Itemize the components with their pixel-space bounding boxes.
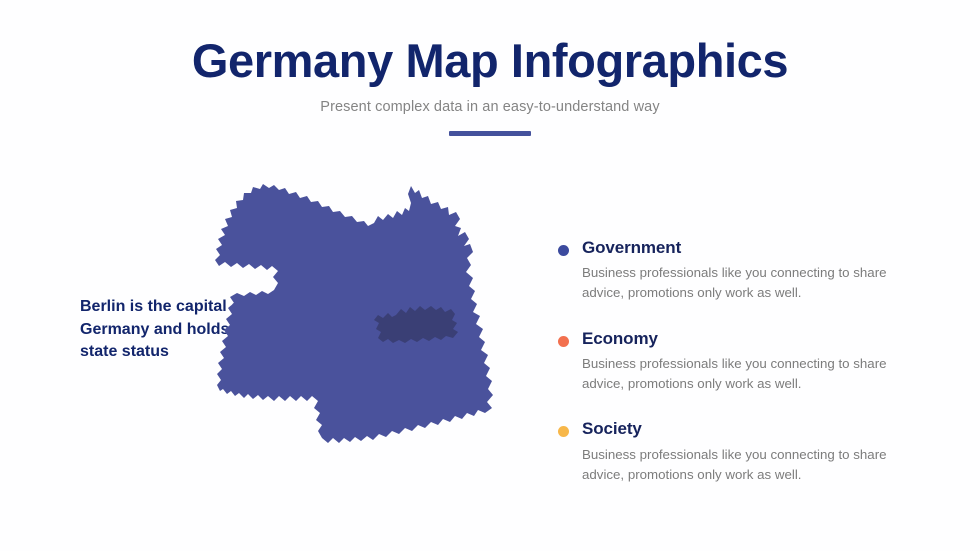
brandenburg-map[interactable]: [212, 182, 542, 494]
point-body-government: Business professionals like you connecti…: [582, 263, 900, 302]
list-item[interactable]: Government Business professionals like y…: [556, 238, 916, 303]
bullet-dot-icon: [558, 426, 569, 437]
page-subtitle: Present complex data in an easy-to-under…: [0, 99, 980, 115]
list-item[interactable]: Society Business professionals like you …: [556, 419, 916, 484]
info-points-list: Government Business professionals like y…: [556, 238, 916, 484]
bullet-dot-icon: [558, 245, 569, 256]
accent-divider: [449, 131, 531, 136]
point-body-society: Business professionals like you connecti…: [582, 445, 900, 484]
page-title: Germany Map Infographics: [0, 36, 980, 85]
point-title-government: Government: [582, 238, 916, 258]
point-body-economy: Business professionals like you connecti…: [582, 354, 900, 393]
slide-header: Germany Map Infographics Present complex…: [0, 36, 980, 136]
point-title-society: Society: [582, 419, 916, 439]
slide-canvas: Germany Map Infographics Present complex…: [0, 0, 980, 551]
bullet-dot-icon: [558, 336, 569, 347]
list-item[interactable]: Economy Business professionals like you …: [556, 329, 916, 394]
point-title-economy: Economy: [582, 329, 916, 349]
